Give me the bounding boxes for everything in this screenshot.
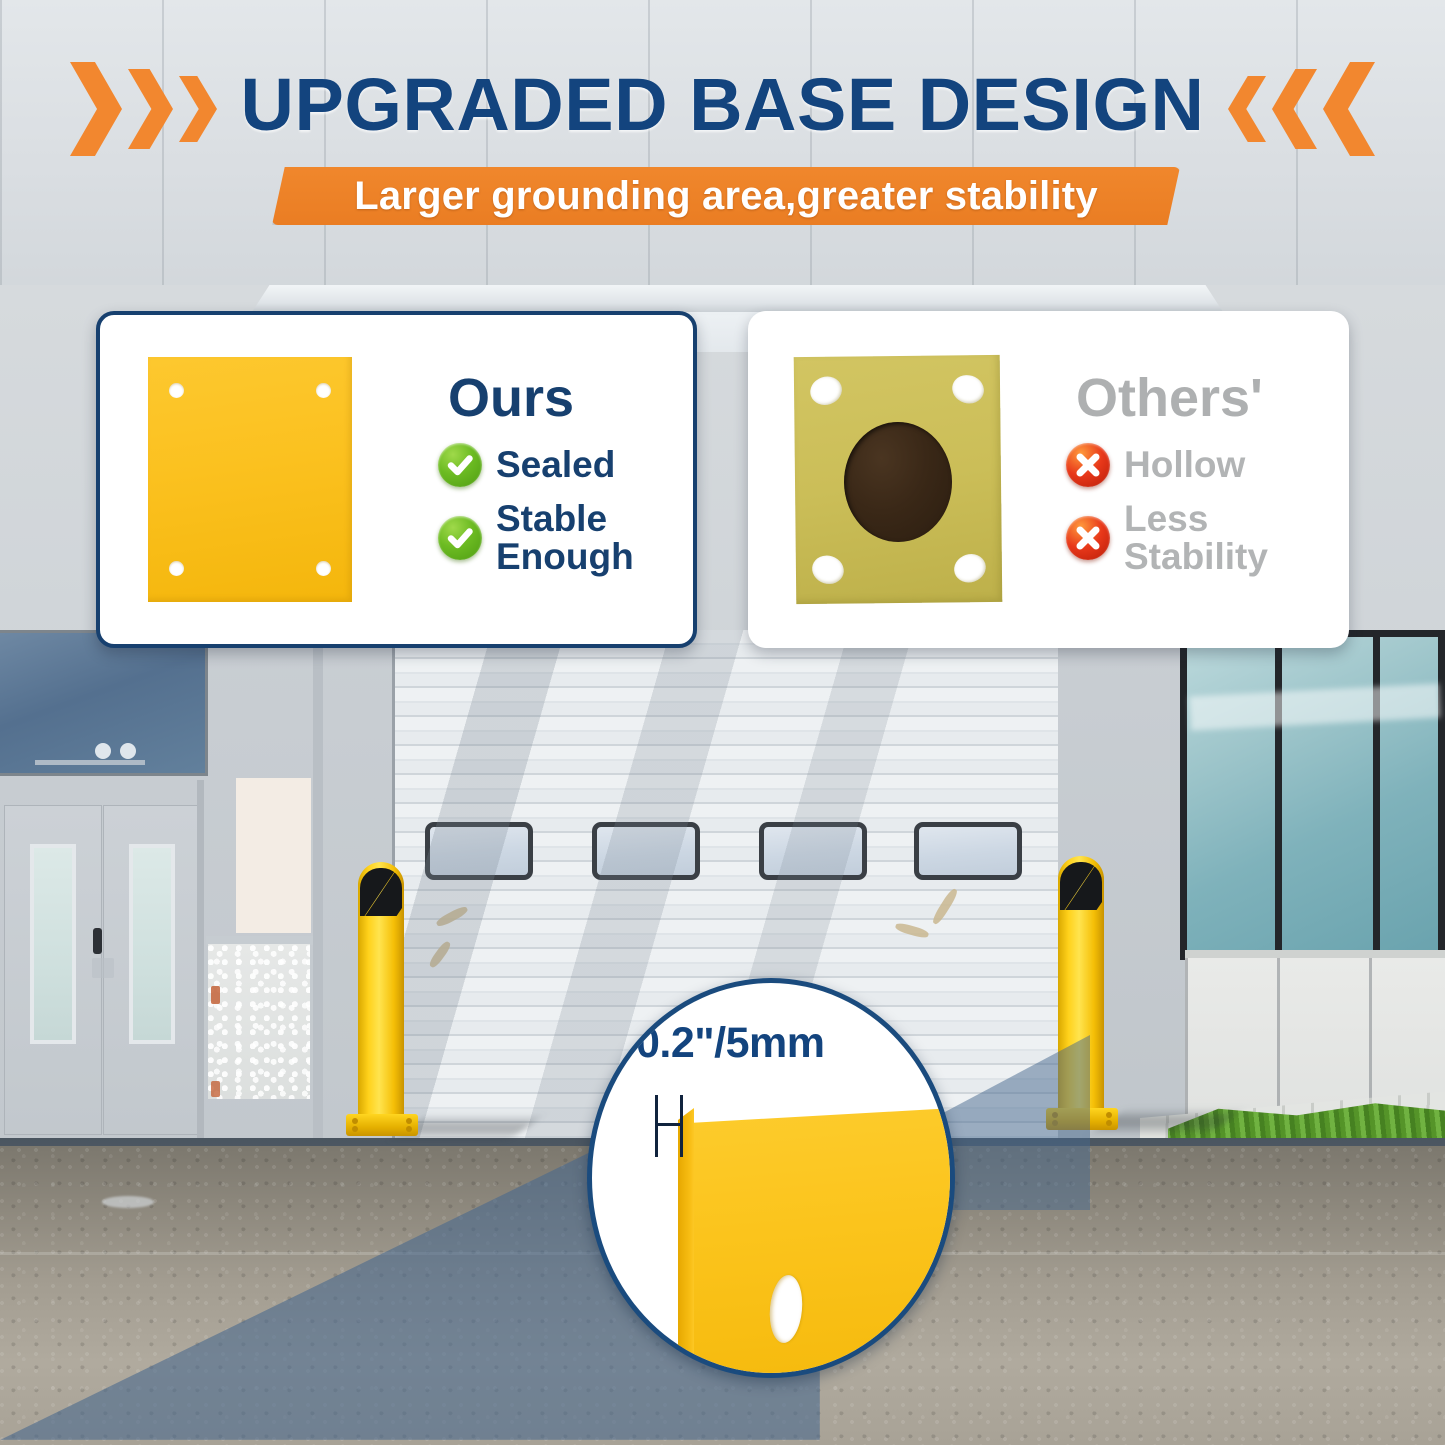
- product-marketing-image: UPGRADED BASE DESIGN Larger grounding ar…: [0, 0, 1445, 1445]
- wall-panel-white: [236, 778, 311, 933]
- comparison-card-ours: Ours Sealed Stable Enough: [96, 311, 697, 648]
- bolt-hole: [169, 561, 184, 576]
- wall-rust-mark: [211, 1081, 220, 1097]
- ground-mark: [102, 1196, 154, 1208]
- debris: [894, 921, 929, 939]
- hazard-stripe-icon: [1060, 862, 1102, 910]
- debris: [435, 905, 469, 929]
- ours-feature-label: Stable Enough: [496, 500, 634, 575]
- door-handle-icon: [93, 928, 102, 954]
- others-details: Others' Hollow Less Stability: [1048, 371, 1349, 588]
- others-feature-label: Less Stability: [1124, 500, 1268, 575]
- door-frame-strip: [197, 780, 204, 1140]
- chevron-left-icon: [1323, 62, 1375, 156]
- door-glass: [129, 844, 175, 1044]
- hazard-stripe-icon: [360, 868, 402, 916]
- others-feature-label: Hollow: [1124, 446, 1245, 484]
- magnifier-callout: 0.2"/5mm: [587, 978, 955, 1378]
- ours-details: Ours Sealed Stable Enough: [400, 371, 693, 588]
- ours-heading: Ours: [400, 371, 683, 425]
- chevron-left-icon: [1272, 69, 1317, 149]
- comparison-card-others: Others' Hollow Less Stability: [748, 311, 1349, 648]
- door-glass: [30, 844, 76, 1044]
- window-bar: [35, 760, 145, 765]
- header: UPGRADED BASE DESIGN Larger grounding ar…: [0, 0, 1445, 240]
- check-circle-icon: [438, 516, 482, 560]
- hollow-base-plate: [794, 355, 1003, 604]
- x-circle-icon: [1066, 516, 1110, 560]
- bolt-hole: [949, 371, 988, 407]
- bolt-hole: [169, 383, 184, 398]
- bollard-base-plate: [346, 1114, 418, 1136]
- ours-feature-1: Sealed: [438, 443, 683, 487]
- wall-rust-mark: [211, 986, 220, 1004]
- facade-edge: [313, 630, 323, 1145]
- shutter-window: [592, 822, 700, 880]
- lamp-icon: [120, 743, 136, 759]
- window-mullion: [1275, 637, 1282, 953]
- bolt-hole: [806, 372, 845, 409]
- others-plate-image: [748, 356, 1048, 603]
- ours-plate-image: [100, 357, 400, 602]
- bolt-hole: [950, 550, 989, 587]
- window-mullion: [1373, 637, 1380, 953]
- bolt-hole: [316, 383, 331, 398]
- magnified-plate: [678, 1105, 955, 1378]
- ours-feature-label: Sealed: [496, 446, 615, 484]
- others-feature-1: Hollow: [1066, 443, 1339, 487]
- thickness-measurement: 0.2"/5mm: [636, 1019, 916, 1068]
- thickness-caliper-icon: [655, 1095, 683, 1157]
- clerestory-window: [0, 630, 208, 776]
- shutter-window: [759, 822, 867, 880]
- center-hole: [843, 421, 952, 542]
- entry-door-left: [4, 805, 102, 1135]
- bolt-hole: [316, 561, 331, 576]
- lamp-icon: [95, 743, 111, 759]
- entry-door-right: [103, 805, 201, 1135]
- chevron-left-icon: [1228, 76, 1266, 142]
- chevron-group-right: [1228, 62, 1375, 156]
- debris: [428, 940, 453, 970]
- others-heading: Others': [1048, 371, 1339, 425]
- debris: [931, 887, 960, 926]
- sealed-base-plate: [148, 357, 352, 602]
- subtitle-banner: Larger grounding area,greater stability: [272, 167, 1180, 225]
- shutter-window: [425, 822, 533, 880]
- check-circle-icon: [438, 443, 482, 487]
- x-circle-icon: [1066, 443, 1110, 487]
- wall-panel-textured: [208, 944, 310, 1099]
- right-window-wall: [1180, 630, 1445, 960]
- bolt-hole: [808, 552, 847, 588]
- ours-feature-2: Stable Enough: [438, 500, 683, 575]
- shutter-window: [914, 822, 1022, 880]
- subtitle-text: Larger grounding area,greater stability: [272, 167, 1180, 225]
- door-kick-plate: [92, 958, 114, 978]
- others-feature-2: Less Stability: [1066, 500, 1339, 575]
